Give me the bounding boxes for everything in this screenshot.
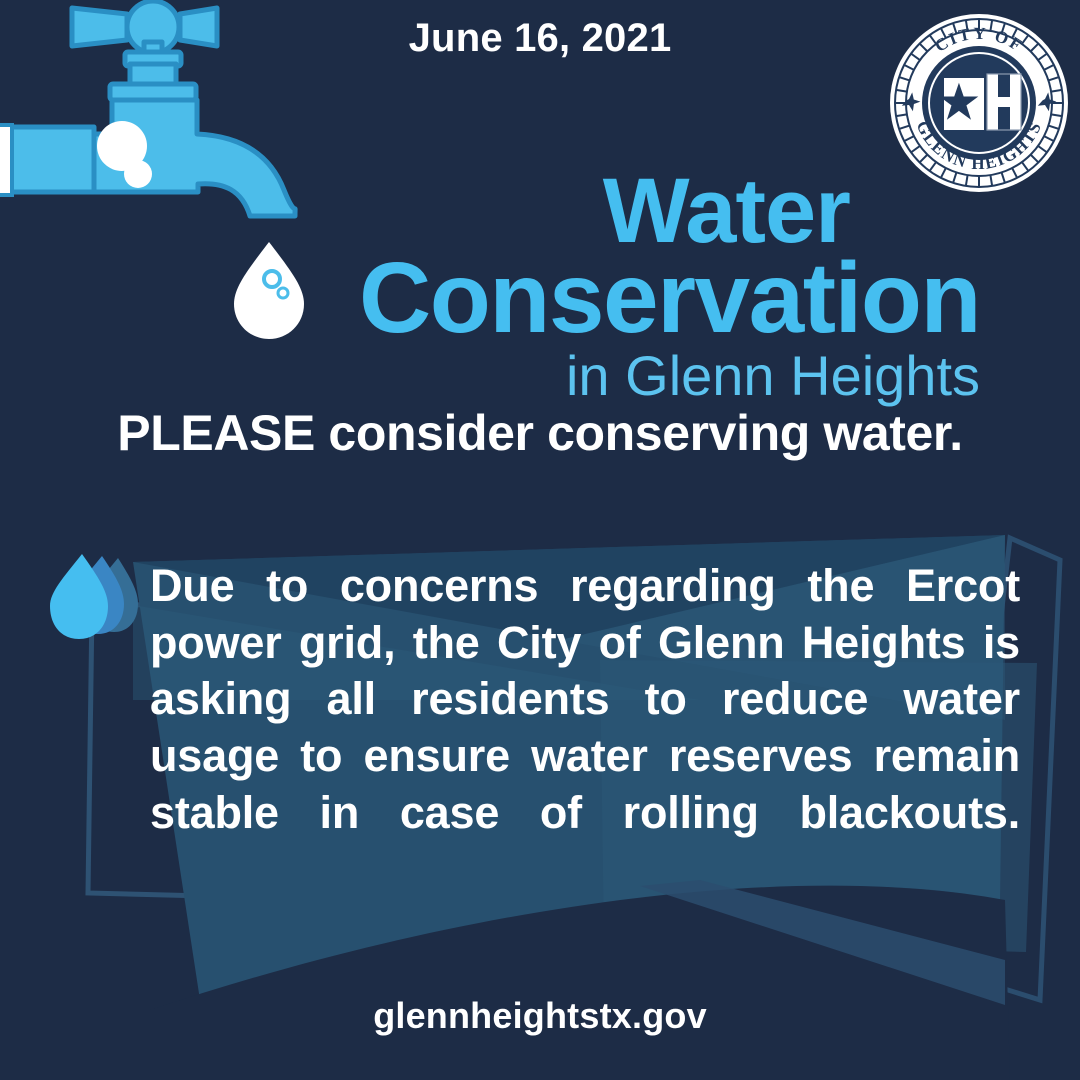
- city-seal-icon: CITY OF GLENN HEIGHTS: [888, 12, 1070, 194]
- panel-bottom-swoosh: [150, 886, 1010, 1080]
- body-text: Due to concerns regarding the Ercot powe…: [150, 558, 1020, 898]
- call-to-action-text: PLEASE consider conserving water.: [0, 404, 1080, 462]
- poster-canvas: June 16, 2021: [0, 0, 1080, 1080]
- footer-url[interactable]: glennheightstx.gov: [0, 995, 1080, 1037]
- headline-block: Water Conservation in Glenn Heights: [60, 168, 980, 404]
- headline-subtitle: in Glenn Heights: [60, 348, 980, 404]
- headline-line-2: Conservation: [60, 251, 980, 346]
- water-droplets-icon: [44, 550, 140, 650]
- panel-diagonal-stripe: [640, 880, 1005, 1005]
